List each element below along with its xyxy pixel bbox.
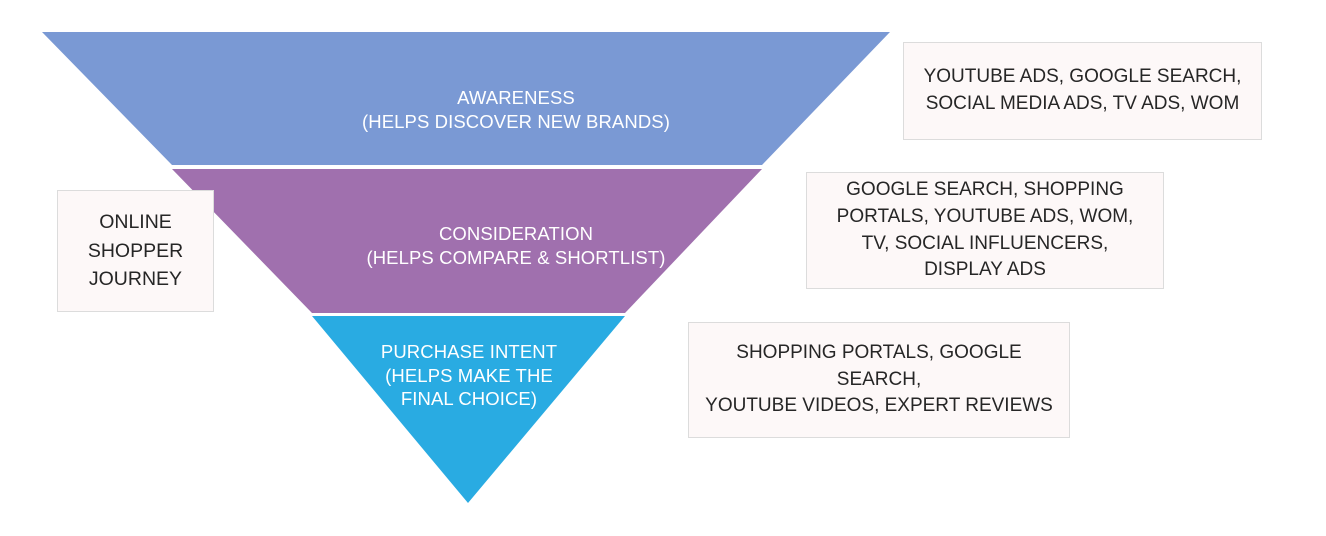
channels-box-consideration: GOOGLE SEARCH, SHOPPING PORTALS, YOUTUBE… <box>806 172 1164 289</box>
funnel-segment-awareness <box>42 32 890 165</box>
channels-box-awareness: YOUTUBE ADS, GOOGLE SEARCH, SOCIAL MEDIA… <box>903 42 1262 140</box>
side-label-online-shopper-journey: ONLINE SHOPPER JOURNEY <box>57 190 214 312</box>
funnel-segment-purchase-intent <box>312 316 625 503</box>
channels-box-purchase-intent: SHOPPING PORTALS, GOOGLE SEARCH, YOUTUBE… <box>688 322 1070 438</box>
funnel-segment-consideration <box>172 169 762 313</box>
funnel-diagram-canvas: AWARENESS (HELPS DISCOVER NEW BRANDS) CO… <box>0 0 1326 536</box>
